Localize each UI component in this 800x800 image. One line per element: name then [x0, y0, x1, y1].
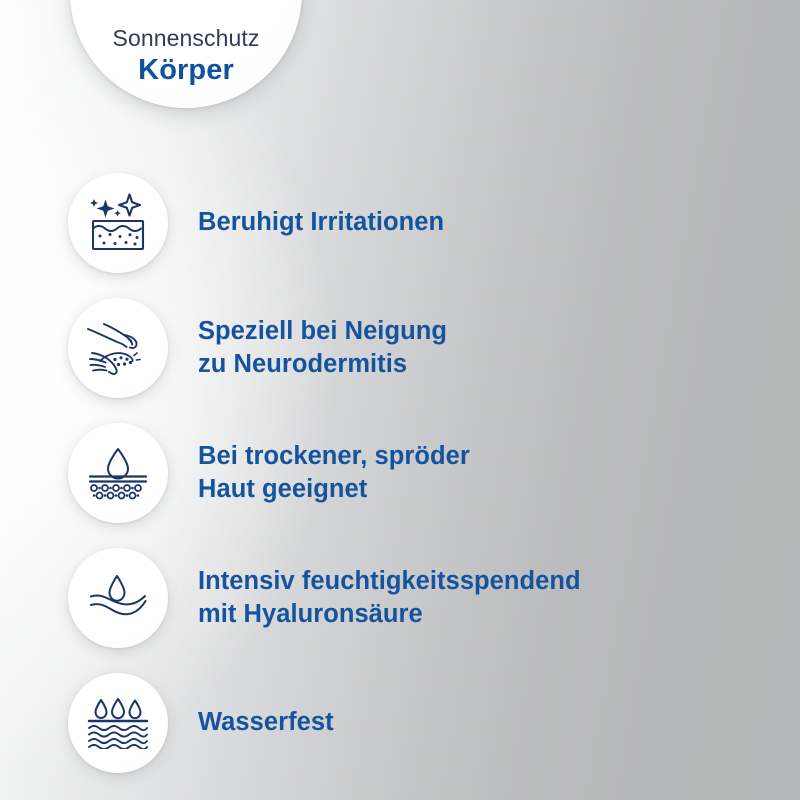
scratching-hands-icon [84, 319, 152, 377]
sparkling-skin-layer-icon [85, 192, 151, 254]
header-badge: Sonnenschutz Körper [70, 0, 302, 108]
header-title: Körper [138, 53, 234, 88]
droplets-over-water-icon [84, 697, 152, 749]
icon-bubble [68, 173, 168, 273]
product-benefits-poster: Sonnenschutz Körper [0, 0, 800, 800]
feature-label: Intensiv feuchtigkeitsspendend mit Hyalu… [198, 565, 581, 630]
icon-bubble [68, 298, 168, 398]
feature-row: Speziell bei Neigung zu Neurodermitis [0, 285, 800, 410]
icon-bubble [68, 548, 168, 648]
feature-row: Beruhigt Irritationen [0, 160, 800, 285]
droplet-on-wave-skin-icon [84, 572, 152, 624]
feature-row: Bei trockener, spröder Haut geeignet [0, 410, 800, 535]
feature-label: Wasserfest [198, 706, 334, 738]
icon-bubble [68, 423, 168, 523]
icon-bubble [68, 673, 168, 773]
header-subtitle: Sonnenschutz [113, 25, 260, 51]
droplet-over-dry-skin-icon [84, 446, 152, 500]
feature-row: Wasserfest [0, 660, 800, 785]
feature-label: Speziell bei Neigung zu Neurodermitis [198, 315, 447, 380]
feature-label: Bei trockener, spröder Haut geeignet [198, 440, 470, 505]
feature-row: Intensiv feuchtigkeitsspendend mit Hyalu… [0, 535, 800, 660]
feature-label: Beruhigt Irritationen [198, 206, 444, 238]
feature-list: Beruhigt Irritationen [0, 160, 800, 785]
